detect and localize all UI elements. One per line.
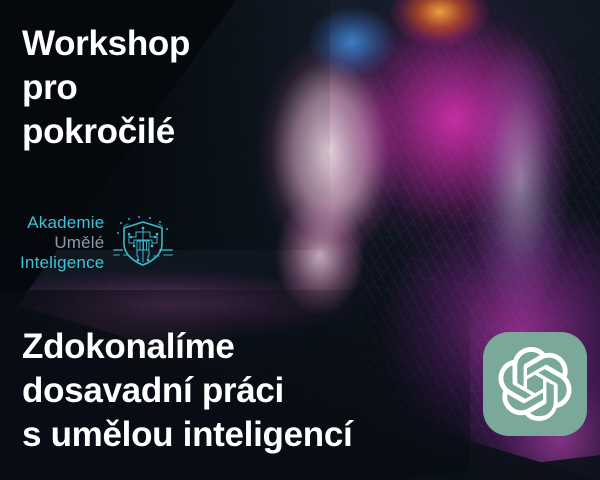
logo-word-inteligence: Inteligence (20, 253, 104, 273)
headline-bottom-line-2: dosavadní práci (22, 369, 422, 413)
openai-badge[interactable] (483, 332, 587, 436)
openai-logo-icon (498, 347, 572, 421)
logo-word-akademie: Akademie (27, 213, 104, 233)
headline-bottom-line-1: Zdokonalíme (22, 325, 422, 369)
promo-banner: Workshop pro pokročilé Akademie Umělé In… (0, 0, 600, 480)
logo-wordmark: Akademie Umělé Inteligence (20, 213, 104, 273)
shield-circuit-brain-icon (112, 212, 174, 274)
headline-top-line-3: pokročilé (22, 110, 272, 154)
headline-bottom: Zdokonalíme dosavadní práci s umělou int… (22, 325, 422, 457)
headline-top-line-2: pro (22, 66, 272, 110)
logo-word-umele: Umělé (54, 233, 104, 253)
logo-akademie-umele-inteligence[interactable]: Akademie Umělé Inteligence (20, 212, 174, 274)
headline-bottom-line-3: s umělou inteligencí (22, 413, 422, 457)
headline-top-line-1: Workshop (22, 22, 272, 66)
headline-top: Workshop pro pokročilé (22, 22, 272, 154)
